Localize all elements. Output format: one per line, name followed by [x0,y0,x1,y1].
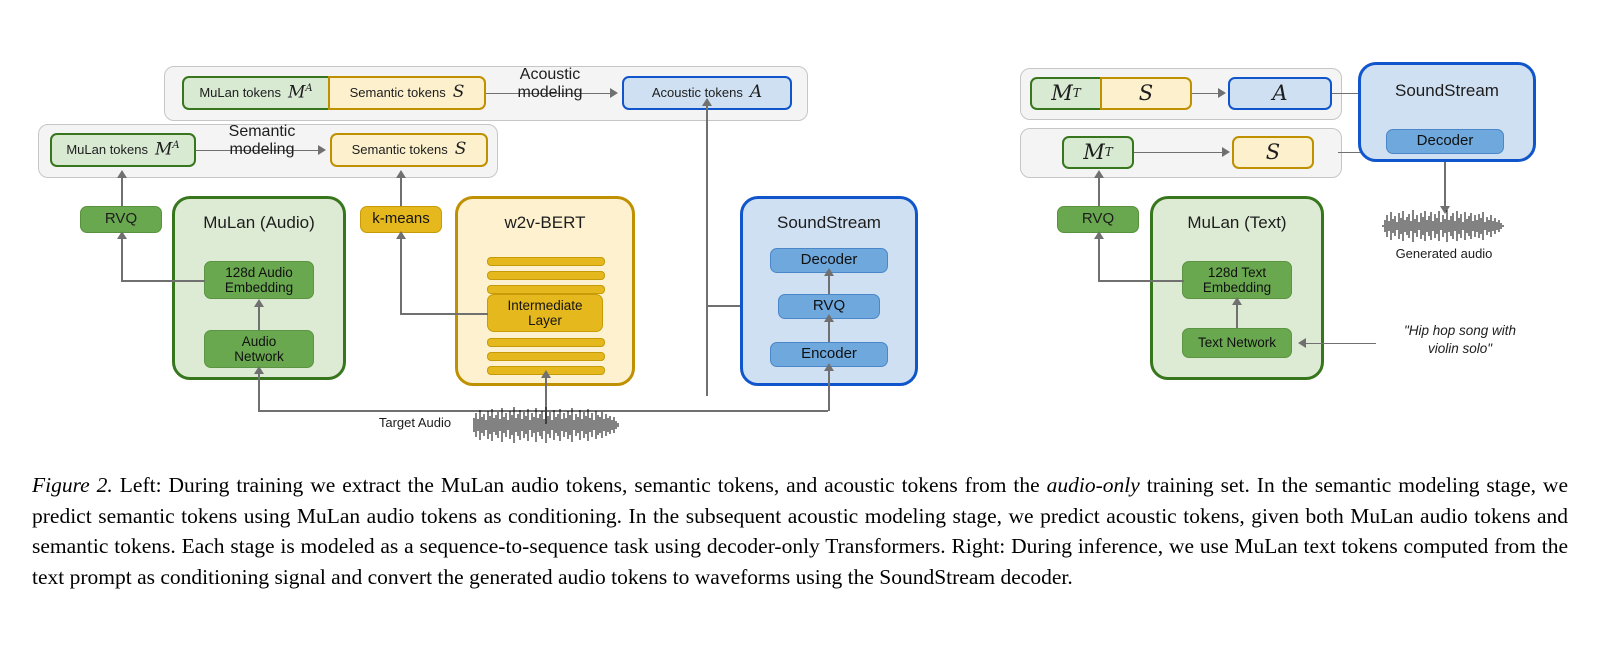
text-embedding-to-rvq-arrowhead [1094,231,1104,239]
w2v-bert-layer-bar [487,257,605,266]
rvq-to-decoder-arrowhead [824,268,834,276]
text-prompt: "Hip hop song with violin solo" [1370,322,1550,357]
audio-network-node[interactable]: Audio Network [204,330,314,368]
soundstream-decoder-node-right[interactable]: Decoder [1386,129,1504,154]
audio-network-line1: Audio [242,334,277,349]
generated-audio-waveform [1382,208,1507,244]
text-embedding-line1: 128d Text [1208,265,1266,280]
text-prompt-line1: "Hip hop song with [1370,322,1550,340]
inference-acoustic-token-node[interactable]: A [1228,77,1332,110]
text-prompt-line2: violin solo" [1370,340,1550,358]
semantic-tokens-label: Semantic tokens [352,143,448,158]
embedding-to-rvq-arrowhead [117,231,127,239]
text-network-node[interactable]: Text Network [1182,328,1292,358]
caption-text-part1: Left: During training we extract the MuL… [113,473,1047,497]
generated-audio-label: Generated audio [1374,246,1514,261]
w2v-bert-layer-bar [487,285,605,294]
semantic-symbol: S [1266,141,1280,165]
soundstream-title-right: SoundStream [1361,81,1533,101]
rvq-to-mulan-text-connector [1098,178,1100,208]
bus-to-encoder-connector [828,367,830,411]
audio-network-to-embedding-arrowhead [254,299,264,307]
mulan-tokens-label: MuLan tokens [199,86,281,101]
kmeans-node[interactable]: k-means [360,206,442,233]
intermediate-to-kmeans-vertical [400,233,402,313]
kmeans-to-semantic-tokens-connector [400,178,402,208]
rvq-label: RVQ [105,211,137,228]
prompt-to-text-network-arrowhead [1298,338,1306,348]
inference-semantic-arrowhead [1222,147,1230,157]
intermediate-to-kmeans-horizontal [400,313,488,315]
mulan-tokens-label: MuLan tokens [66,143,148,158]
text-embedding-to-rvq-vertical [1098,233,1100,280]
mulan-text-superscript: T [1105,146,1113,159]
acoustic-tokens-symbol: A [750,83,762,102]
w2v-bert-layer-bar [487,271,605,280]
semantic-modeling-label-line1: Semantic [212,123,312,141]
target-audio-label: Target Audio [360,415,470,430]
w2v-bert-layer-bar [487,352,605,361]
mulan-text-superscript: T [1073,87,1081,100]
encoder-to-rvq-connector [828,319,830,342]
text-embedding-line2: Embedding [1203,280,1271,295]
mulan-text-symbol: M [1083,141,1105,165]
inference-mulan-text-token-node-semantic[interactable]: MT [1062,136,1134,169]
acoustic-modeling-label-line2: modeling [500,84,600,102]
semantic-tokens-node[interactable]: Semantic tokens S [330,133,488,167]
text-network-label: Text Network [1198,335,1276,350]
bus-to-encoder-arrowhead [824,363,834,371]
text-network-to-embedding-connector [1236,303,1238,328]
semantic-symbol: S [1139,82,1153,106]
inference-semantic-token-node[interactable]: S [1232,136,1314,169]
semantic-modeling-arrowhead [318,145,326,155]
soundstream-encoder-label: Encoder [801,346,857,363]
intermediate-layer-line2: Layer [528,313,562,328]
soundstream-title: SoundStream [743,213,915,233]
bus-to-audio-network-arrowhead [254,366,264,374]
acoustic-stage-semantic-tokens-node[interactable]: Semantic tokens S [328,76,486,110]
kmeans-label: k-means [372,211,430,228]
inference-semantic-connector [1134,152,1222,154]
kmeans-to-semantic-tokens-arrowhead [396,170,406,178]
semantic-tokens-symbol: S [455,140,467,159]
prompt-to-text-network-connector [1304,343,1376,345]
semantic-tokens-label: Semantic tokens [350,86,446,101]
inference-mulan-text-token-node-acoustic[interactable]: MT [1030,77,1100,110]
audio-network-line2: Network [234,349,284,364]
semantic-modeling-stage-label: Semantic modeling [212,123,312,159]
semantic-stage-mulan-tokens-node[interactable]: MuLan tokens MA [50,133,196,167]
acoustic-modeling-label-line1: Acoustic [500,66,600,84]
rvq-node-text[interactable]: RVQ [1057,206,1139,233]
figure-2-diagram: MuLan tokens MA Semantic tokens S Acoust… [0,0,1600,666]
bus-to-w2v-bert-arrowhead [541,370,551,378]
soundstream-decoder-label-right: Decoder [1417,133,1474,150]
rvq-to-mulan-tokens-arrowhead [117,170,127,178]
text-network-to-embedding-arrowhead [1232,297,1242,305]
audio-embedding-node[interactable]: 128d Audio Embedding [204,261,314,299]
text-embedding-to-rvq-horizontal [1098,280,1184,282]
mulan-tokens-superscript: A [172,140,179,151]
rvq-to-mulan-tokens-connector [121,178,123,208]
decoder-to-generated-audio-connector [1444,162,1446,210]
intermediate-to-kmeans-arrowhead [396,231,406,239]
acoustic-symbol: A [1272,82,1287,106]
figure-label: Figure 2. [32,473,113,497]
acoustic-modeling-stage-label: Acoustic modeling [500,66,600,102]
rvq-to-decoder-connector [828,273,830,294]
audio-embedding-line2: Embedding [225,280,293,295]
mulan-tokens-symbol: M [155,140,172,160]
figure-caption: Figure 2. Left: During training we extra… [32,470,1568,592]
w2v-bert-layer-bar [487,338,605,347]
mulan-audio-title: MuLan (Audio) [175,213,343,233]
rvq-label-right: RVQ [1082,211,1114,228]
mulan-text-symbol: M [1051,82,1073,106]
soundstream-decoder-label: Decoder [801,252,858,269]
encoder-to-rvq-arrowhead [824,314,834,322]
rvq-to-mulan-text-arrowhead [1094,170,1104,178]
embedding-to-rvq-horizontal [121,280,205,282]
rvq-node-audio[interactable]: RVQ [80,206,162,233]
audio-network-to-embedding-connector [258,307,260,330]
caption-emphasis: audio-only [1047,473,1140,497]
bus-to-audio-network-connector [258,368,260,411]
semantic-modeling-label-line2: modeling [212,141,312,159]
target-audio-waveform [472,405,622,445]
inference-acoustic-connector [1192,93,1218,95]
audio-embedding-line1: 128d Audio [225,265,293,280]
mulan-tokens-symbol: M [288,83,305,103]
inference-semantic-token-node-acoustic[interactable]: S [1100,77,1192,110]
text-embedding-node[interactable]: 128d Text Embedding [1182,261,1292,299]
acoustic-tokens-label: Acoustic tokens [652,86,743,101]
soundstream-rvq-to-acoustic-arrowhead [702,98,712,106]
soundstream-rvq-label: RVQ [813,298,845,315]
mulan-text-title: MuLan (Text) [1153,213,1321,233]
soundstream-rvq-to-acoustic-vertical [706,100,708,396]
intermediate-layer-node[interactable]: Intermediate Layer [487,294,603,332]
embedding-to-rvq-vertical [121,233,123,280]
w2v-bert-title: w2v-BERT [458,213,632,233]
inference-acoustic-arrowhead [1218,88,1226,98]
mulan-tokens-superscript: A [305,83,312,94]
semantic-tokens-symbol: S [453,83,465,102]
acoustic-modeling-arrowhead [610,88,618,98]
intermediate-layer-line1: Intermediate [507,298,582,313]
acoustic-stage-mulan-tokens-node[interactable]: MuLan tokens MA [182,76,328,110]
